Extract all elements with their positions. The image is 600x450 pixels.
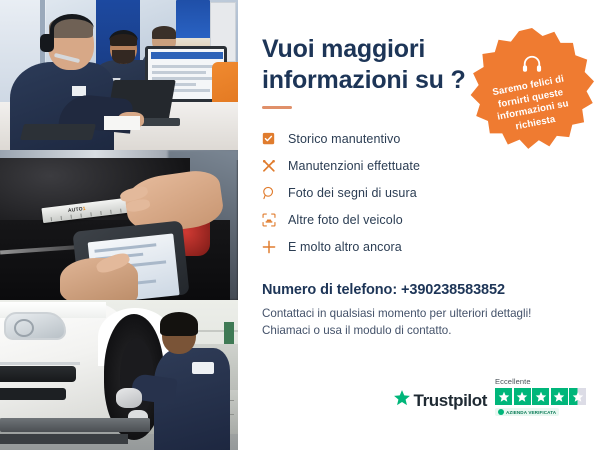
feature-label: Foto dei segni di usura <box>288 186 417 200</box>
contact-line-2: Chiamaci o usa il modulo di contatto. <box>262 322 578 339</box>
headline-line-1: Vuoi maggiori <box>262 34 477 65</box>
check-square-icon <box>262 132 288 145</box>
tools-cross-icon <box>262 159 288 173</box>
star-icon-full <box>495 388 512 405</box>
check-circle-icon <box>498 409 504 415</box>
magnifier-icon <box>262 186 288 200</box>
feature-label: Altre foto del veicolo <box>288 213 403 227</box>
vehicle-inspection-ruler-photo: AUTO1 <box>0 150 238 300</box>
star-icon-full <box>532 388 549 405</box>
feature-item-manutenzioni: Manutenzioni effettuate <box>262 152 578 179</box>
title-divider <box>262 106 292 109</box>
feature-item-altro-ancora: E molto altro ancora <box>262 233 578 260</box>
star-icon-full <box>514 388 531 405</box>
feature-label: E molto altro ancora <box>288 240 402 254</box>
phone-label: Numero di telefono: <box>262 282 397 298</box>
phone-number-line: Numero di telefono: +390238583852 <box>262 282 578 298</box>
trustpilot-rating-word: Eccellente <box>495 377 531 386</box>
mechanic-wheel-photo <box>0 300 238 450</box>
feature-label: Storico manutentivo <box>288 132 400 146</box>
star-icon-half <box>569 388 586 405</box>
content-panel: Vuoi maggiori informazioni su ? Storico … <box>238 0 600 450</box>
photo-column: AUTO1 <box>0 0 238 450</box>
trustpilot-rating[interactable]: Trustpilot Eccellente <box>393 377 586 416</box>
phone-block: Numero di telefono: +390238583852 Contat… <box>262 282 578 340</box>
trustpilot-star-icon <box>393 389 411 412</box>
star-icon-full <box>551 388 568 405</box>
request-info-badge: Saremo felici di fornirti queste informa… <box>470 28 594 152</box>
trustpilot-name: Trustpilot <box>414 391 487 411</box>
feature-item-foto-usura: Foto dei segni di usura <box>262 179 578 206</box>
phone-number[interactable]: +390238583852 <box>401 282 505 298</box>
promo-banner: AUTO1 <box>0 0 600 450</box>
verified-business-badge: AZIENDA VERIFICATA <box>495 408 559 416</box>
contact-instructions: Contattaci in qualsiasi momento per ulte… <box>262 305 578 340</box>
trustpilot-stars <box>495 388 586 405</box>
car-scan-icon <box>262 213 288 227</box>
headline-line-2: informazioni su ? <box>262 65 477 96</box>
verified-text: AZIENDA VERIFICATA <box>506 410 556 415</box>
page-title: Vuoi maggiori informazioni su ? <box>262 34 477 96</box>
contact-line-1: Contattaci in qualsiasi momento per ulte… <box>262 305 578 322</box>
feature-label: Manutenzioni effettuate <box>288 159 420 173</box>
trustpilot-score-block: Eccellente <box>495 377 586 416</box>
trustpilot-logo: Trustpilot <box>393 389 487 416</box>
feature-item-altre-foto: Altre foto del veicolo <box>262 206 578 233</box>
plus-icon <box>262 240 288 254</box>
call-center-agents-photo <box>0 0 238 150</box>
